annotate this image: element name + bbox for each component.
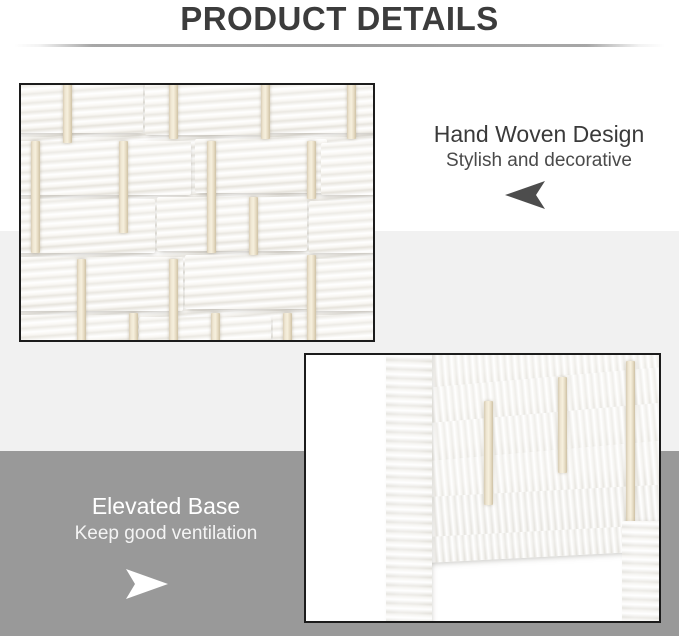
callout-title: Elevated Base bbox=[42, 492, 290, 521]
page-title: PRODUCT DETAILS bbox=[0, 0, 679, 37]
title-divider bbox=[14, 44, 665, 47]
callout-subtitle: Stylish and decorative bbox=[408, 148, 670, 173]
arrow-left-icon bbox=[503, 180, 547, 210]
elevated-base-closeup-photo bbox=[304, 353, 661, 623]
woven-texture-graphic bbox=[21, 85, 373, 340]
arrow-right-icon bbox=[122, 568, 170, 600]
callout-hand-woven-design: Hand Woven Design Stylish and decorative bbox=[408, 120, 670, 173]
elevated-base-graphic bbox=[306, 355, 659, 621]
callout-title: Hand Woven Design bbox=[408, 120, 670, 148]
poster-header: PRODUCT DETAILS bbox=[0, 0, 679, 55]
callout-elevated-base: Elevated Base Keep good ventilation bbox=[42, 492, 290, 547]
woven-texture-closeup-photo bbox=[19, 83, 375, 342]
callout-subtitle: Keep good ventilation bbox=[42, 521, 290, 547]
product-details-poster: PRODUCT DETAILS bbox=[0, 0, 679, 636]
